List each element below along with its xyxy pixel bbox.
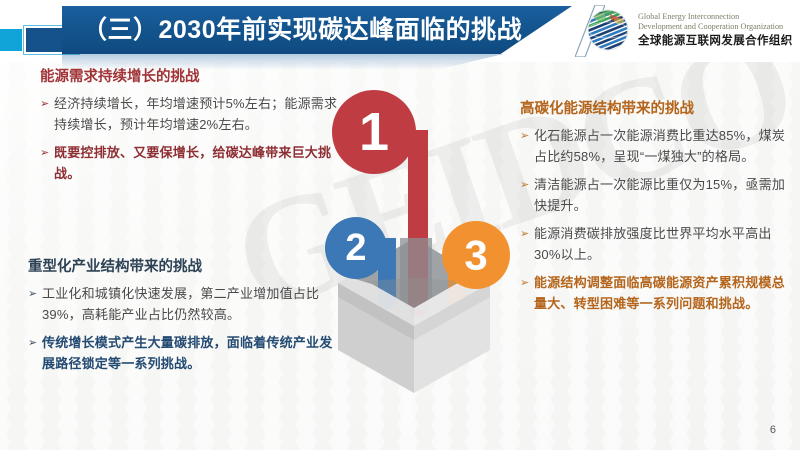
- marker-label-3: 3: [464, 232, 487, 279]
- page-number: 6: [770, 424, 776, 436]
- bullet-text: 能源消费碳排放强度比世界平均水平高出30%以上。: [534, 224, 790, 265]
- bullet-item: ➢ 化石能源占一次能源消费比重达85%，煤炭占比约58%，呈现“一煤独大”的格局…: [520, 126, 790, 167]
- bullet-item: ➢ 工业化和城镇化快速发展，第二产业增加值占比39%，高耗能产业占比仍然较高。: [28, 284, 340, 325]
- slide-header: （三）2030年前实现碳达峰面临的挑战: [0, 0, 800, 62]
- block-heading-energy-demand: 能源需求持续增长的挑战: [40, 68, 340, 87]
- bullet-text: 能源结构调整面临高碳能源资产累积规模总量大、转型困难等一系列问题和挑战。: [534, 273, 790, 314]
- text-block-energy-demand: 能源需求持续增长的挑战 ➢ 经济持续增长，年均增速预计5%左右；能源需求持续增长…: [40, 68, 340, 192]
- bullet-text: 化石能源占一次能源消费比重达85%，煤炭占比约58%，呈现“一煤独大”的格局。: [534, 126, 790, 167]
- bullet-marker-icon: ➢: [28, 284, 42, 325]
- logo-english-line-2: Development and Cooperation Organization: [638, 22, 793, 33]
- central-infographic: 1 2 3: [312, 88, 517, 418]
- bullet-text: 既要控排放、又要保增长，给碳达峰带来巨大挑战。: [54, 143, 340, 184]
- bullet-marker-icon: ➢: [40, 143, 54, 184]
- logo-text-group: Global Energy Interconnection Developmen…: [638, 12, 793, 49]
- bullet-item: ➢ 清洁能源占一次能源比重仅为15%，亟需加快提升。: [520, 175, 790, 216]
- bullet-item: ➢ 传统增长模式产生大量碳排放，面临着传统产业发展路径锁定等一系列挑战。: [28, 333, 340, 374]
- marker-label-2: 2: [345, 227, 366, 269]
- bullet-text: 经济持续增长，年均增速预计5%左右；能源需求持续增长，预计年均增速2%左右。: [54, 94, 340, 135]
- bullet-item: ➢ 既要控排放、又要保增长，给碳达峰带来巨大挑战。: [40, 143, 340, 184]
- organization-logo: Global Energy Interconnection Developmen…: [586, 8, 793, 52]
- bullet-item: ➢ 能源结构调整面临高碳能源资产累积规模总量大、转型困难等一系列问题和挑战。: [520, 273, 790, 314]
- bullet-text: 传统增长模式产生大量碳排放，面临着传统产业发展路径锁定等一系列挑战。: [42, 333, 340, 374]
- bullet-marker-icon: ➢: [28, 333, 42, 374]
- bullet-item: ➢ 经济持续增长，年均增速预计5%左右；能源需求持续增长，预计年均增速2%左右。: [40, 94, 340, 135]
- logo-english-line-1: Global Energy Interconnection: [638, 12, 793, 23]
- bullet-marker-icon: ➢: [520, 224, 534, 265]
- page-title: （三）2030年前实现碳达峰面临的挑战: [82, 12, 532, 48]
- text-block-carbon-energy-structure: 高碳化能源结构带来的挑战 ➢ 化石能源占一次能源消费比重达85%，煤炭占比约58…: [520, 100, 790, 322]
- bullet-marker-icon: ➢: [520, 273, 534, 314]
- header-accent-square-cyan: [0, 29, 22, 51]
- text-block-industry-structure: 重型化产业结构带来的挑战 ➢ 工业化和城镇化快速发展，第二产业增加值占比39%，…: [28, 258, 340, 382]
- bullet-text: 清洁能源占一次能源比重仅为15%，亟需加快提升。: [534, 175, 790, 216]
- bullet-marker-icon: ➢: [520, 126, 534, 167]
- bullet-item: ➢ 能源消费碳排放强度比世界平均水平高出30%以上。: [520, 224, 790, 265]
- marker-label-1: 1: [359, 102, 389, 162]
- bullet-marker-icon: ➢: [520, 175, 534, 216]
- bullet-text: 工业化和城镇化快速发展，第二产业增加值占比39%，高耗能产业占比仍然较高。: [42, 284, 340, 325]
- bullet-marker-icon: ➢: [40, 94, 54, 135]
- globe-icon: [586, 8, 630, 52]
- block-heading-industry-structure: 重型化产业结构带来的挑战: [28, 258, 340, 277]
- block-heading-carbon-structure: 高碳化能源结构带来的挑战: [520, 100, 790, 119]
- logo-chinese-name: 全球能源互联网发展合作组织: [638, 34, 793, 49]
- slide-canvas: GEIDCO （三）2030年前实现碳达峰面临的挑战: [0, 0, 800, 450]
